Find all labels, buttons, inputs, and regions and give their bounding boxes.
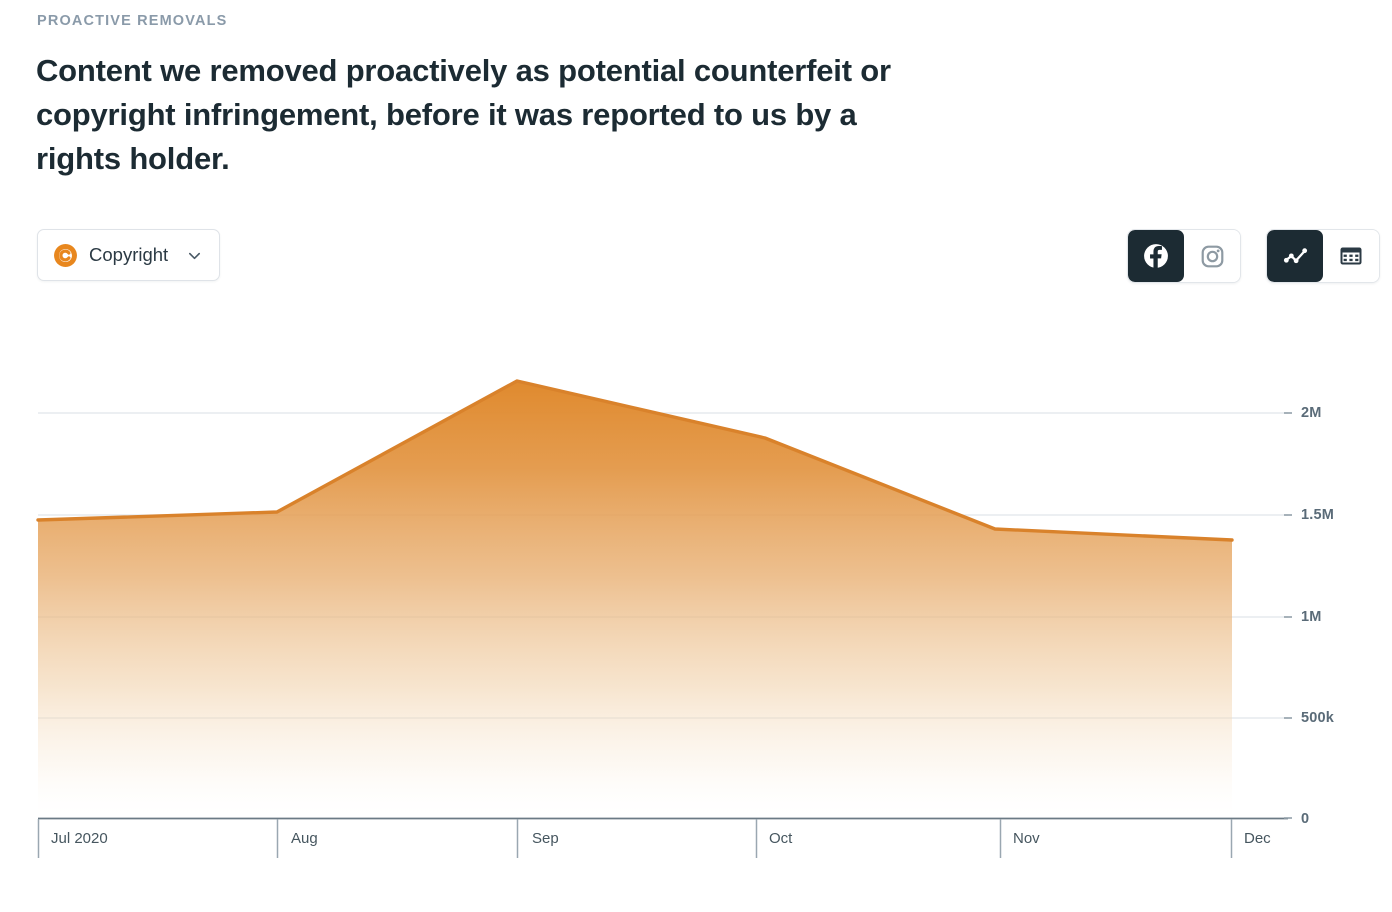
section-eyebrow: PROACTIVE REMOVALS (37, 14, 227, 29)
x-tick-label-nov: Nov (1013, 831, 1040, 846)
series-line (38, 381, 1232, 540)
x-tick-marks (39, 819, 1232, 858)
toggle-table-view[interactable] (1323, 230, 1379, 282)
proactive-removals-panel: PROACTIVE REMOVALS Content we removed pr… (0, 0, 1392, 912)
category-filter-dropdown[interactable]: Copyright (37, 229, 220, 281)
line-chart-icon (1283, 244, 1308, 269)
x-tick-label-aug: Aug (291, 831, 318, 846)
x-tick-label-dec: Dec (1244, 831, 1271, 846)
y-tick-label-0: 0 (1301, 812, 1309, 827)
x-tick-label-jul-2020: Jul 2020 (51, 831, 108, 846)
toggle-chart-view[interactable] (1267, 230, 1323, 282)
gridlines (38, 413, 1288, 718)
y-tick-label-500k: 500k (1301, 711, 1334, 726)
copyright-icon (53, 243, 78, 268)
facebook-icon (1143, 243, 1169, 269)
area-series-copyright (38, 381, 1232, 818)
controls-row: Copyright (0, 229, 1392, 285)
x-tick-label-sep: Sep (532, 831, 559, 846)
x-tick-label-oct: Oct (769, 831, 792, 846)
chevron-down-icon (187, 248, 202, 263)
y-tick-label-1m: 1M (1301, 610, 1322, 625)
toggle-instagram[interactable] (1184, 230, 1240, 282)
table-icon (1339, 244, 1363, 268)
platform-toggle-group (1127, 229, 1241, 283)
y-tick-label-2m: 2M (1301, 406, 1322, 421)
toggle-facebook[interactable] (1128, 230, 1184, 282)
y-tick-label-1-5m: 1.5M (1301, 508, 1334, 523)
y-tick-marks (1284, 413, 1292, 818)
page-title: Content we removed proactively as potent… (36, 49, 936, 181)
view-toggle-group (1266, 229, 1380, 283)
instagram-icon (1200, 244, 1225, 269)
category-filter-label: Copyright (89, 246, 168, 265)
